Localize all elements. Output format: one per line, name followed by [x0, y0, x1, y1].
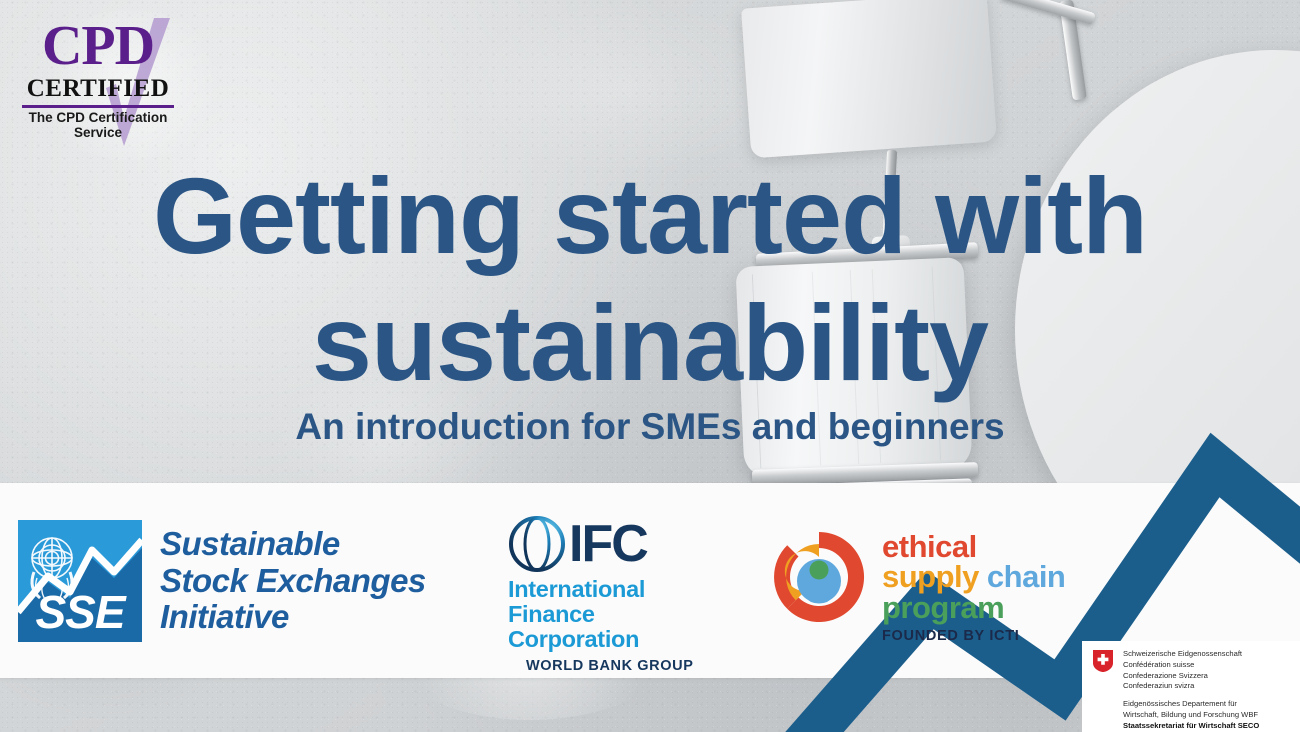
sse-logo-text: Sustainable Stock Exchanges Initiative [160, 526, 426, 637]
ifc-line-2: Finance [508, 602, 693, 627]
seco-dept-line-1: Eidgenössisches Departement für [1123, 699, 1259, 710]
world-bank-globe-icon [508, 515, 566, 573]
cpd-title: CPD [8, 18, 188, 74]
sse-emblem-icon: SSE [18, 520, 142, 642]
cpd-subtitle: CERTIFIED [8, 76, 188, 101]
cpd-divider [22, 105, 174, 108]
seco-line-de: Schweizerische Eidgenossenschaft [1123, 649, 1259, 660]
seco-spacer [1123, 692, 1259, 699]
seco-text-block: Schweizerische Eidgenossenschaft Confédé… [1123, 649, 1259, 732]
cpd-certified-badge: CPD CERTIFIED The CPD Certification Serv… [8, 18, 188, 158]
page-title: Getting started with sustainability [0, 152, 1300, 407]
title-line-2: sustainability [0, 279, 1300, 406]
seco-line-rm: Confederaziun svizra [1123, 681, 1259, 692]
escp-emblem-icon [770, 528, 868, 626]
seco-dept-line-3: Staatssekretariat für Wirtschaft SECO [1123, 721, 1259, 732]
ethical-supply-chain-program-logo: ethical supplychain program FOUNDED BY I… [770, 528, 1065, 644]
escp-word-ethical: ethical [882, 532, 1065, 562]
seco-line-fr: Confédération suisse [1123, 660, 1259, 671]
swiss-shield-icon [1092, 649, 1114, 673]
seco-logo: Schweizerische Eidgenossenschaft Confédé… [1082, 641, 1300, 732]
seco-line-it: Confederazione Svizzera [1123, 671, 1259, 682]
sse-logo: SSE Sustainable Stock Exchanges Initiati… [18, 520, 426, 642]
seco-dept-line-2: Wirtschaft, Bildung und Forschung WBF [1123, 710, 1259, 721]
sse-line-2: Stock Exchanges [160, 563, 426, 600]
sse-line-3: Initiative [160, 599, 426, 636]
escp-line-supply-chain: supplychain [882, 562, 1065, 592]
cpd-service-line-1: The CPD Certification [8, 111, 188, 126]
svg-text:SSE: SSE [35, 586, 126, 638]
escp-word-program: program [882, 593, 1065, 623]
presentation-slide: CPD CERTIFIED The CPD Certification Serv… [0, 0, 1300, 732]
ifc-line-3: Corporation [508, 627, 693, 652]
ifc-world-bank-group: WORLD BANK GROUP [526, 658, 693, 674]
ifc-logo: IFC International Finance Corporation WO… [508, 515, 693, 674]
ifc-acronym: IFC [569, 521, 647, 568]
title-line-1: Getting started with [0, 152, 1300, 279]
escp-wordmark: ethical supplychain program FOUNDED BY I… [882, 532, 1065, 644]
escp-founded-by: FOUNDED BY ICTI [882, 628, 1065, 644]
sse-line-1: Sustainable [160, 526, 426, 563]
sse-logo-mark: SSE [18, 520, 142, 642]
ifc-logo-row: IFC [508, 515, 693, 573]
page-subtitle: An introduction for SMEs and beginners [0, 406, 1300, 448]
ifc-full-name: International Finance Corporation [508, 577, 693, 652]
cpd-service-line-2: Service [8, 126, 188, 141]
office-chair-backrest [741, 0, 997, 158]
ifc-line-1: International [508, 577, 693, 602]
